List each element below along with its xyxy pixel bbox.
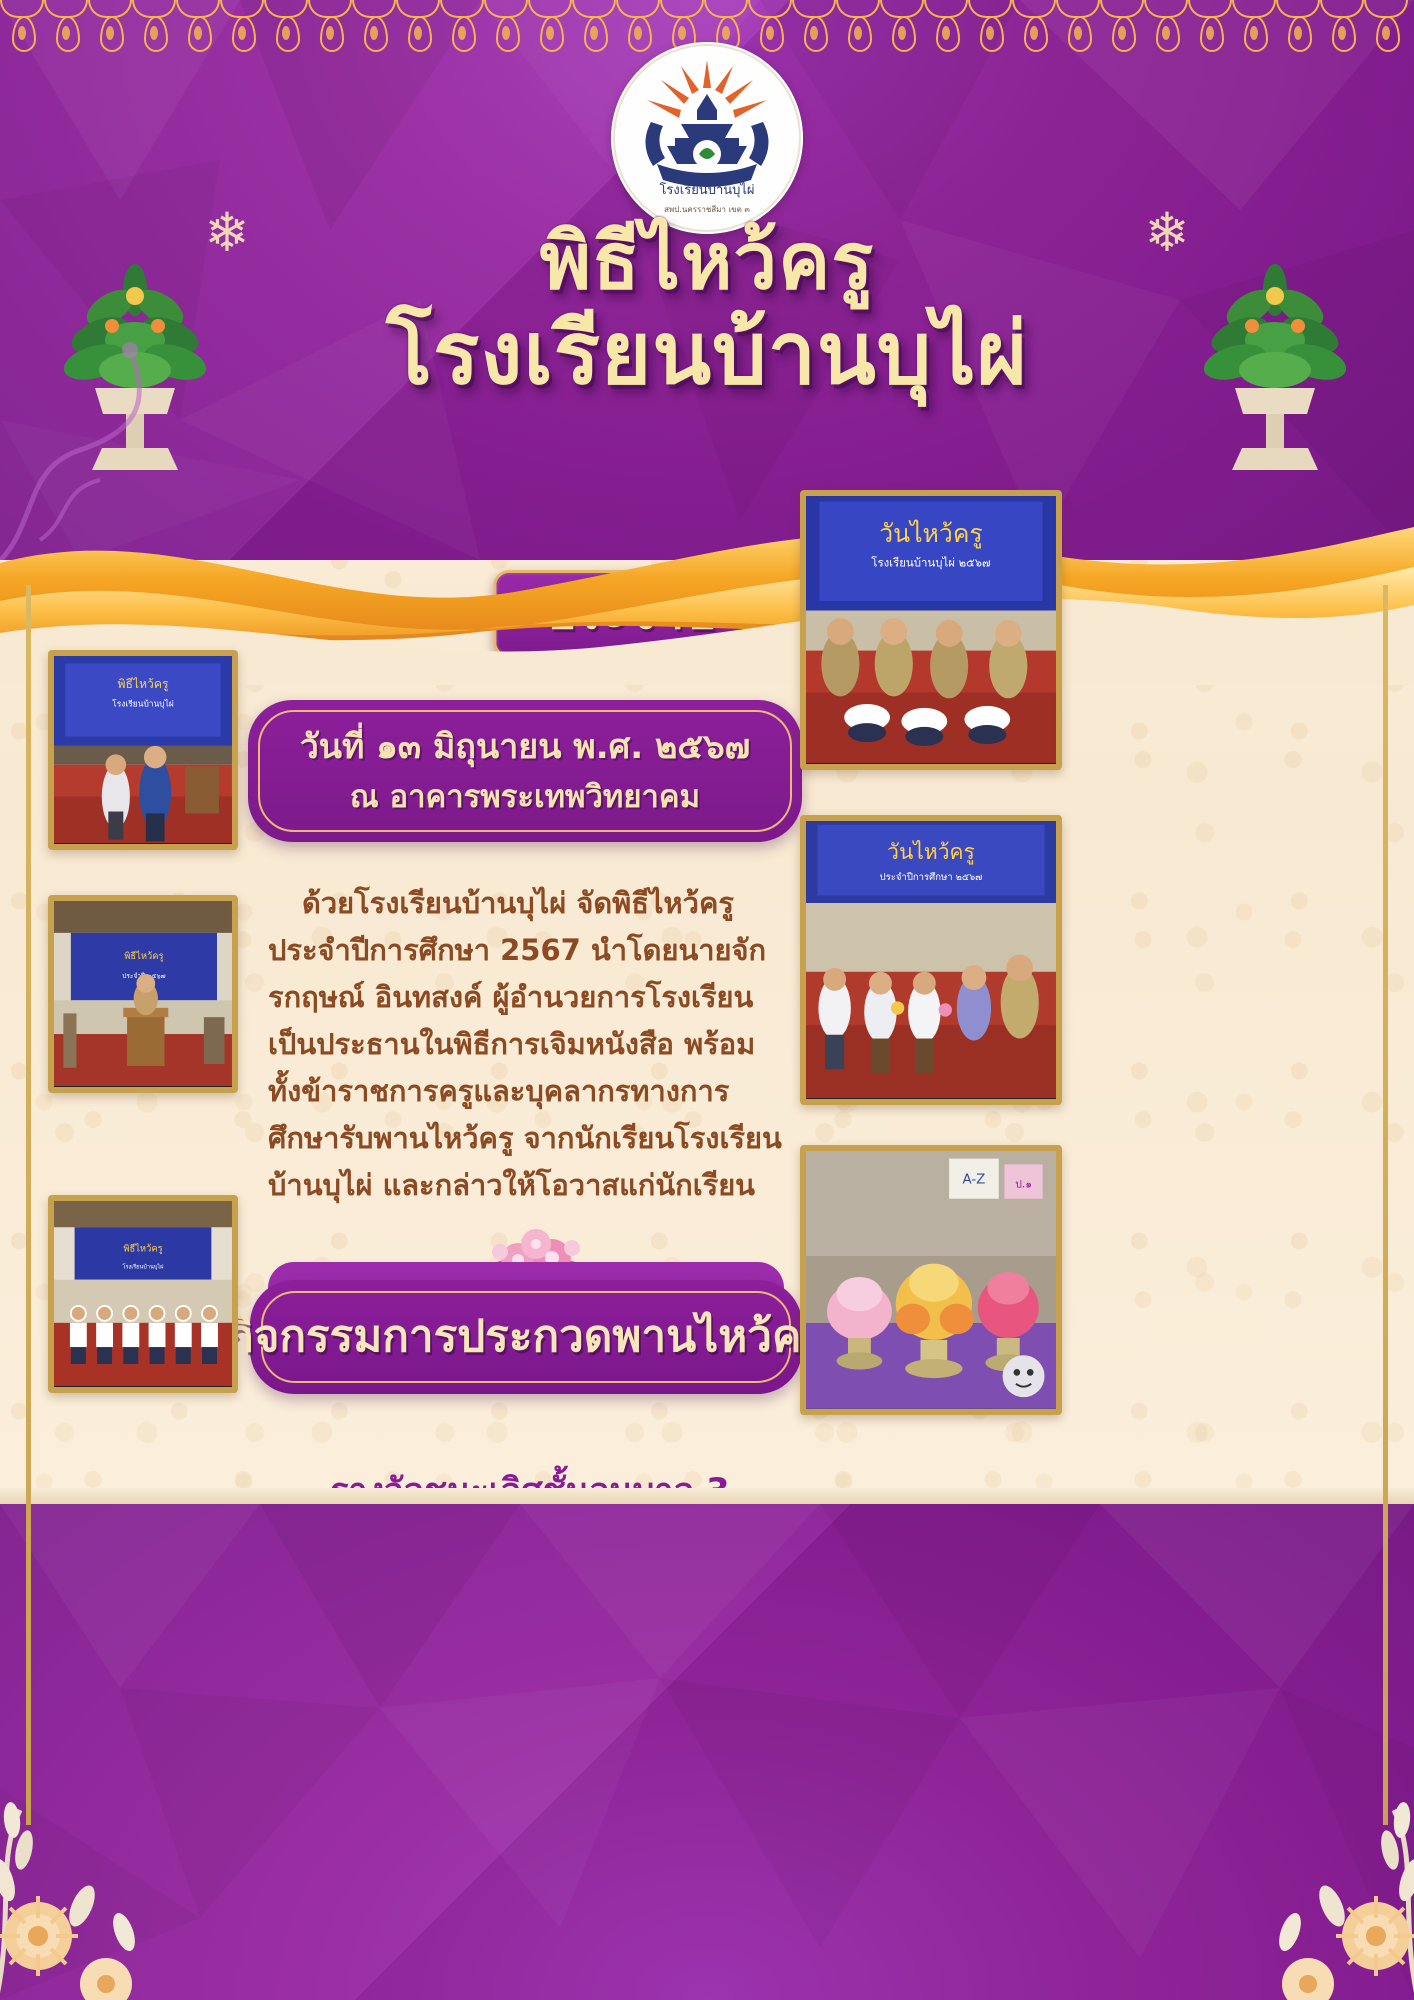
svg-text:สพป.นครราชสีมา เขต ๓: สพป.นครราชสีมา เขต ๓ <box>664 205 750 214</box>
title-line-2: โรงเรียนบ้านบุไผ่ <box>0 306 1414 402</box>
event-date-line: วันที่ ๑๓ มิถุนายน พ.ศ. ๒๕๖๗ <box>266 722 784 772</box>
title-line-1: พิธีไหว้ครู <box>0 218 1414 306</box>
poster-root: ❄ ❄ <box>0 0 1414 2000</box>
photo-right-flower-trays: A-Z ป.๑ <box>800 1145 1062 1415</box>
svg-text:วันไหว้ครู: วันไหว้ครู <box>879 519 983 549</box>
svg-text:โรงเรียนบ้านบุไผ่: โรงเรียนบ้านบุไผ่ <box>122 1262 163 1270</box>
paper-border-left <box>26 585 31 1825</box>
photo-right-students-offering: วันไหว้ครู ประจำปีการศึกษา ๒๕๖๗ <box>800 815 1062 1105</box>
school-emblem-icon: โรงเรียนบ้านบุไผ่ สพป.นครราชสีมา เขต ๓ <box>611 42 803 234</box>
activity-banner-label: กิจกรรมการประกวดพานไหว้ครู <box>227 1309 825 1365</box>
corner-flower-cluster-right-icon <box>1194 1700 1414 2000</box>
activity-banner: กิจกรรมการประกวดพานไหว้ครู <box>250 1280 802 1394</box>
photo-left-students-group: พิธีไหว้ครู โรงเรียนบ้านบุไผ่ <box>48 1195 238 1393</box>
svg-text:โรงเรียนบ้านบุไผ่: โรงเรียนบ้านบุไผ่ <box>112 699 174 710</box>
poster-title: พิธีไหว้ครู โรงเรียนบ้านบุไผ่ <box>0 218 1414 402</box>
svg-text:ป.๑: ป.๑ <box>1015 1178 1032 1190</box>
event-date-plaque: วันที่ ๑๓ มิถุนายน พ.ศ. ๒๕๖๗ ณ อาคารพระเ… <box>248 700 802 842</box>
svg-text:พิธีไหว้ครู: พิธีไหว้ครู <box>123 1243 162 1255</box>
svg-text:พิธีไหว้ครู: พิธีไหว้ครู <box>117 677 169 692</box>
photo-right-teachers-row: วันไหว้ครู โรงเรียนบ้านบุไผ่ ๒๕๖๗ <box>800 490 1062 770</box>
event-description: ด้วยโรงเรียนบ้านบุไผ่ จัดพิธีไหว้ครู ประ… <box>268 880 788 1209</box>
paper-border-right <box>1383 585 1388 1825</box>
svg-text:พิธีไหว้ครู: พิธีไหว้ครู <box>124 950 163 962</box>
photo-left-ceremony-stage: พิธีไหว้ครู โรงเรียนบ้านบุไผ่ <box>48 650 238 850</box>
svg-text:โรงเรียนบ้านบุไผ่: โรงเรียนบ้านบุไผ่ <box>659 182 754 198</box>
svg-text:ประจำปีการศึกษา ๒๕๖๗: ประจำปีการศึกษา ๒๕๖๗ <box>880 871 983 883</box>
event-venue-line: ณ อาคารพระเทพวิทยาคม <box>266 772 784 822</box>
svg-text:วันไหว้ครู: วันไหว้ครู <box>887 840 975 865</box>
footer-background <box>0 1488 1414 2000</box>
svg-text:A-Z: A-Z <box>963 1172 986 1187</box>
photo-left-podium-speech: พิธีไหว้ครู ประจำปี ๒๕๖๗ <box>48 895 238 1093</box>
corner-flower-cluster-left-icon <box>0 1700 220 2000</box>
svg-text:โรงเรียนบ้านบุไผ่ ๒๕๖๗: โรงเรียนบ้านบุไผ่ ๒๕๖๗ <box>871 556 990 570</box>
